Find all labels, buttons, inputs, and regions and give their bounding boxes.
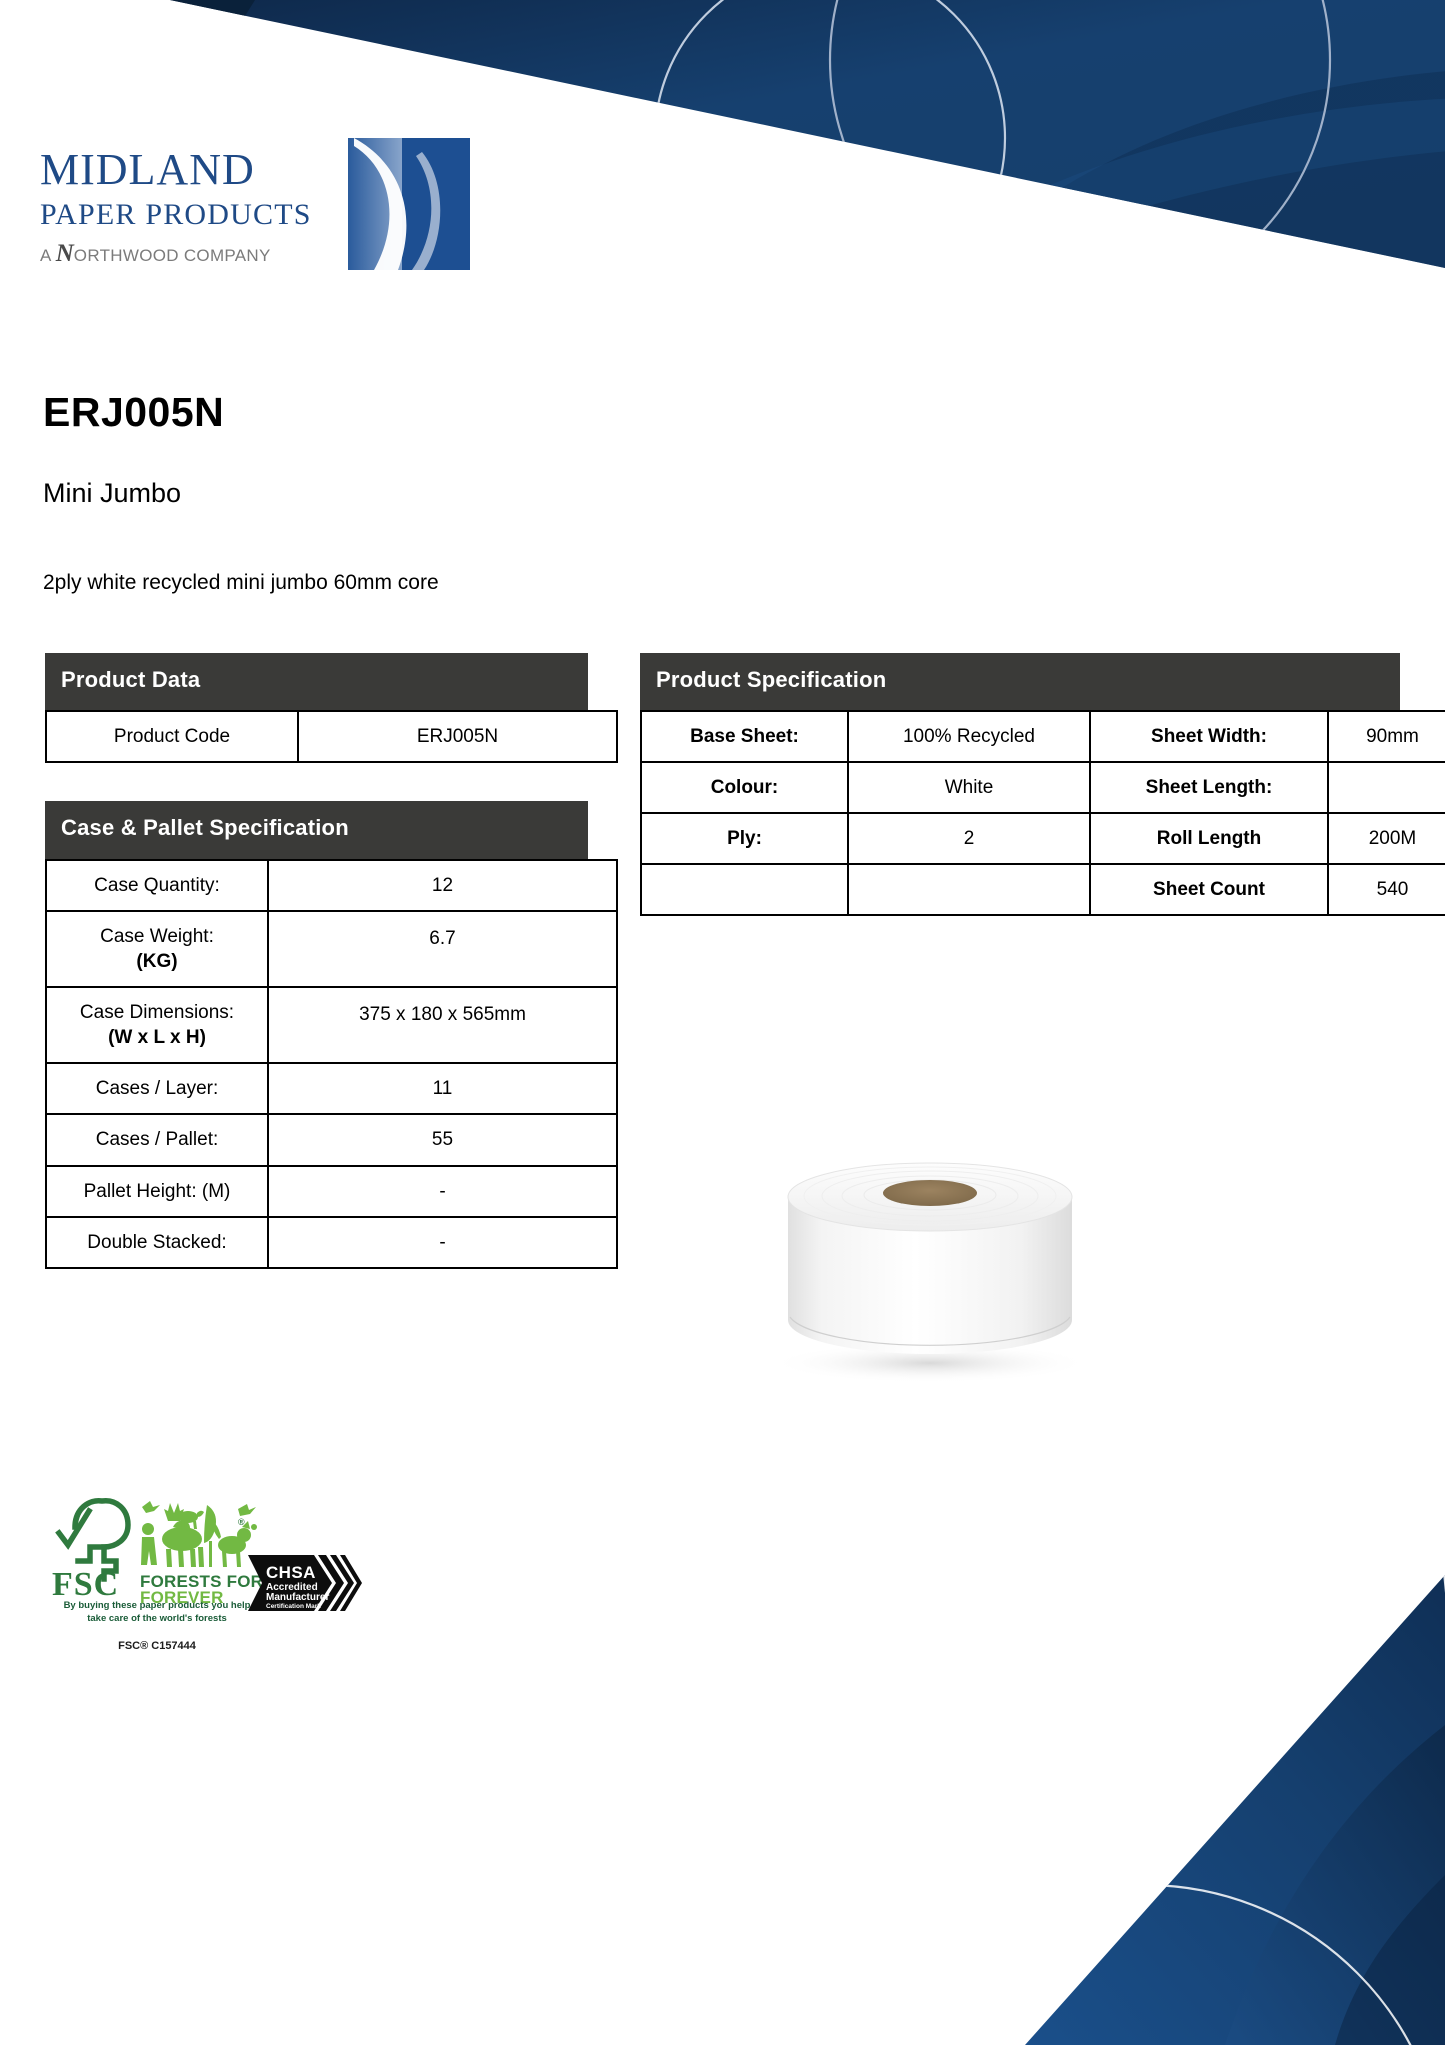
table-row: Product Code ERJ005N: [46, 711, 617, 762]
svg-text:Manufacturer: Manufacturer: [266, 1592, 329, 1603]
table-row: Ply: 2 Roll Length 200M: [641, 813, 1445, 864]
table-row: Colour: White Sheet Length:: [641, 762, 1445, 813]
product-description: 2ply white recycled mini jumbo 60mm core: [43, 572, 439, 593]
company-logo: MIDLAND PAPER PRODUCTS A NORTHWOOD COMPA…: [40, 148, 500, 298]
page-subtitle-product-name: Mini Jumbo: [43, 480, 181, 507]
cell-case-dimensions-value: 375 x 180 x 565mm: [268, 987, 617, 1063]
product-image: [760, 1155, 1100, 1385]
cell-roll-length-value: 200M: [1328, 813, 1445, 864]
svg-text:Certification Mark: Certification Mark: [266, 1603, 321, 1610]
product-data-grid: Product Code ERJ005N: [45, 710, 618, 763]
cell-base-sheet-value: 100% Recycled: [848, 711, 1090, 762]
logo-northwood-rest: ORTHWOOD COMPANY: [74, 246, 271, 265]
fsc-caption-line-1: By buying these paper products you help: [64, 1600, 251, 1611]
product-specification-grid: Base Sheet: 100% Recycled Sheet Width: 9…: [640, 710, 1445, 916]
case-weight-unit-text: (KG): [136, 951, 177, 972]
table-row: Case Quantity: 12: [46, 860, 617, 911]
logo-line-paper-products: PAPER PRODUCTS: [40, 200, 330, 230]
case-pallet-section: Case & Pallet Specification Case Quantit…: [45, 801, 588, 1269]
cell-ply-value: 2: [848, 813, 1090, 864]
cell-ply-label: Ply:: [641, 813, 848, 864]
cell-case-quantity-label: Case Quantity:: [46, 860, 268, 911]
cell-sheet-count-label: Sheet Count: [1090, 864, 1328, 915]
case-dimensions-label-text: Case Dimensions:: [80, 1002, 234, 1023]
logo-northwood-n: N: [56, 240, 74, 267]
table-row: Cases / Pallet: 55: [46, 1114, 617, 1165]
cell-sheet-length-label: Sheet Length:: [1090, 762, 1328, 813]
footer-corner-graphic: [1025, 1545, 1445, 2045]
cell-case-weight-value: 6.7: [268, 911, 617, 987]
logo-northwood-prefix: A: [40, 246, 56, 265]
cell-spacer-left: [641, 864, 848, 915]
logo-line-northwood-company: A NORTHWOOD COMPANY: [40, 241, 330, 266]
svg-text:®: ®: [238, 1517, 245, 1527]
cell-base-sheet-label: Base Sheet:: [641, 711, 848, 762]
cell-colour-label: Colour:: [641, 762, 848, 813]
product-data-header: Product Data: [45, 653, 588, 710]
fsc-licence-code: FSC® C157444: [42, 1640, 272, 1652]
table-row: Pallet Height: (M) -: [46, 1166, 617, 1217]
logo-line-midland: MIDLAND: [40, 148, 330, 192]
cell-sheet-count-value: 540: [1328, 864, 1445, 915]
forests-for-all-forever-icon: [141, 1501, 257, 1567]
page-title-product-code: ERJ005N: [43, 392, 224, 433]
fsc-caption: By buying these paper products you help …: [42, 1600, 272, 1626]
logo-wordmark: MIDLAND PAPER PRODUCTS A NORTHWOOD COMPA…: [40, 148, 330, 266]
fsc-caption-line-2: take care of the world's forests: [87, 1613, 227, 1624]
cell-case-weight-label: Case Weight: (KG): [46, 911, 268, 987]
cell-sheet-length-value: [1328, 762, 1445, 813]
product-specification-section: Product Specification Base Sheet: 100% R…: [640, 653, 1400, 916]
table-row: Case Weight: (KG) 6.7: [46, 911, 617, 987]
cell-product-code-label: Product Code: [46, 711, 298, 762]
cell-roll-length-label: Roll Length: [1090, 813, 1328, 864]
cell-pallet-height-label: Pallet Height: (M): [46, 1166, 268, 1217]
product-data-section: Product Data Product Code ERJ005N: [45, 653, 588, 763]
cell-case-dimensions-label: Case Dimensions: (W x L x H): [46, 987, 268, 1063]
svg-text:CHSA: CHSA: [266, 1563, 316, 1582]
table-row: Sheet Count 540: [641, 864, 1445, 915]
case-dimensions-axes-text: (W x L x H): [108, 1027, 206, 1048]
table-row: Cases / Layer: 11: [46, 1063, 617, 1114]
case-pallet-header: Case & Pallet Specification: [45, 801, 588, 859]
cell-cases-pallet-value: 55: [268, 1114, 617, 1165]
cell-cases-pallet-label: Cases / Pallet:: [46, 1114, 268, 1165]
table-row: Case Dimensions: (W x L x H) 375 x 180 x…: [46, 987, 617, 1063]
cell-case-quantity-value: 12: [268, 860, 617, 911]
cell-cases-layer-label: Cases / Layer:: [46, 1063, 268, 1114]
cell-colour-value: White: [848, 762, 1090, 813]
cell-sheet-width-value: 90mm: [1328, 711, 1445, 762]
cell-sheet-width-label: Sheet Width:: [1090, 711, 1328, 762]
cell-cases-layer-value: 11: [268, 1063, 617, 1114]
cell-pallet-height-value: -: [268, 1166, 617, 1217]
cell-double-stacked-value: -: [268, 1217, 617, 1268]
table-row: Double Stacked: -: [46, 1217, 617, 1268]
svg-text:FSC: FSC: [52, 1566, 119, 1603]
cell-spacer-right: [848, 864, 1090, 915]
case-weight-label-text: Case Weight:: [100, 926, 214, 947]
product-specification-header: Product Specification: [640, 653, 1400, 710]
cell-product-code-value: ERJ005N: [298, 711, 617, 762]
table-row: Base Sheet: 100% Recycled Sheet Width: 9…: [641, 711, 1445, 762]
case-pallet-grid: Case Quantity: 12 Case Weight: (KG) 6.7 …: [45, 859, 618, 1269]
logo-m-mark-icon: [340, 136, 480, 276]
cell-double-stacked-label: Double Stacked:: [46, 1217, 268, 1268]
